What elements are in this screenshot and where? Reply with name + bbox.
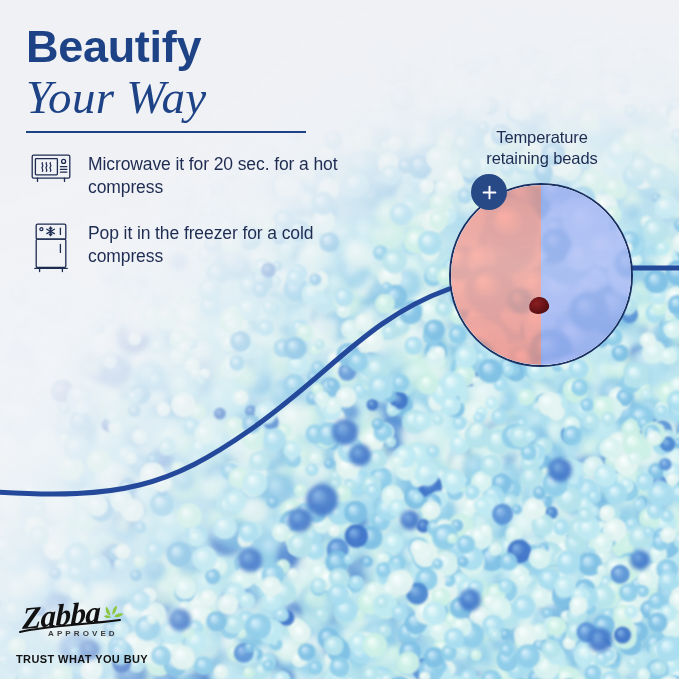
cold-half-overlay: [541, 185, 631, 365]
page-title: Beautify Your Way: [26, 24, 446, 124]
logo-mark: Zabba APPROVED: [16, 603, 151, 639]
headline-line-2: Your Way: [26, 71, 446, 124]
benefit-label-freezer: Pop it in the freezer for a cold compres…: [88, 221, 358, 268]
benefit-item-freezer: Pop it in the freezer for a cold compres…: [28, 221, 358, 273]
headline-divider: [26, 131, 306, 133]
product-infographic: Beautify Your Way: [0, 0, 679, 679]
freezer-icon: [28, 221, 74, 273]
microwave-icon: [28, 152, 74, 184]
headline-line-1: Beautify: [26, 24, 446, 69]
callout-label-line-1: Temperature: [437, 127, 647, 148]
benefit-label-microwave: Microwave it for 20 sec. for a hot compr…: [88, 152, 358, 199]
callout-label: Temperature retaining beads: [437, 127, 647, 169]
plus-badge[interactable]: [471, 174, 507, 210]
logo-tagline: TRUST WHAT YOU BUY: [16, 653, 151, 665]
callout-circle: [449, 183, 633, 367]
temperature-callout: [449, 183, 633, 367]
logo-approved-text: APPROVED: [48, 629, 118, 638]
hot-half-overlay: [451, 185, 541, 365]
callout-label-line-2: retaining beads: [437, 148, 647, 169]
brand-logo: Zabba APPROVED TRUST WHAT YOU BUY: [16, 603, 151, 665]
plus-icon: [481, 184, 498, 201]
benefit-list: Microwave it for 20 sec. for a hot compr…: [28, 152, 358, 295]
benefit-item-microwave: Microwave it for 20 sec. for a hot compr…: [28, 152, 358, 199]
